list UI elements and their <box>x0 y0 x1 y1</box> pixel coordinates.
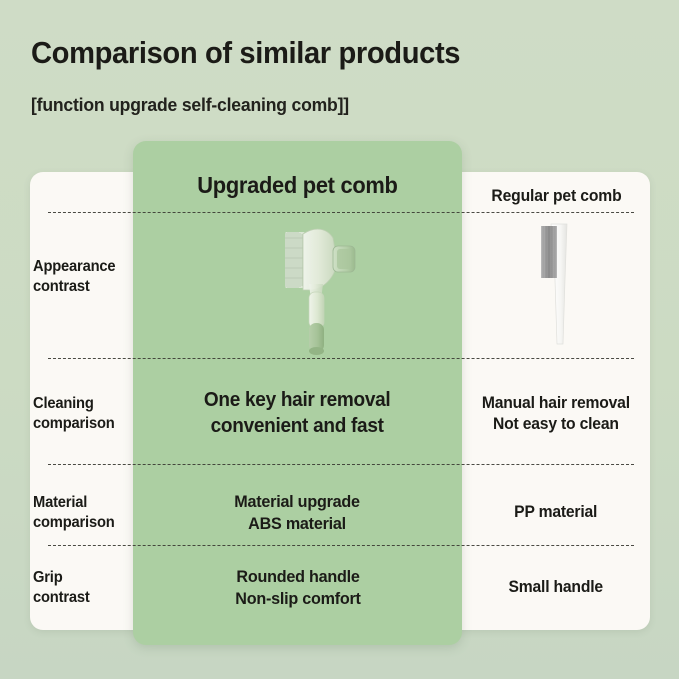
cell-grip-upgraded-text: Rounded handleNon-slip comfort <box>235 566 360 610</box>
page-subtitle: [function upgrade self-cleaning comb]] <box>31 94 349 116</box>
cell-cleaning-regular-text: Manual hair removalNot easy to clean <box>482 393 630 436</box>
cell-cleaning-upgraded: One key hair removalconvenient and fast <box>133 385 462 443</box>
cell-grip-regular-text: Small handle <box>509 577 603 598</box>
row-label-grip-text: Gripcontrast <box>33 568 90 608</box>
upgraded-pet-comb-image <box>265 218 395 358</box>
row-label-cleaning-text: Cleaningcomparison <box>33 394 115 434</box>
cell-grip-regular: Small handle <box>462 560 650 616</box>
row-label-cleaning: Cleaningcomparison <box>33 385 133 443</box>
divider-under-cleaning-row <box>48 464 634 465</box>
regular-pet-comb-image <box>517 218 607 358</box>
cell-material-regular-text: PP material <box>514 502 597 523</box>
infographic-root: Comparison of similar products [function… <box>0 0 679 679</box>
column-header-regular: Regular pet comb <box>462 180 650 212</box>
cell-material-upgraded: Material upgradeABS material <box>133 487 462 539</box>
row-label-grip: Gripcontrast <box>33 560 133 616</box>
row-label-material: Materialcomparison <box>33 487 133 539</box>
column-header-upgraded-label: Upgraded pet comb <box>197 172 397 199</box>
row-label-appearance-text: Appearancecontrast <box>33 257 115 297</box>
cell-cleaning-regular: Manual hair removalNot easy to clean <box>462 385 650 443</box>
cell-material-regular: PP material <box>462 487 650 539</box>
row-label-material-text: Materialcomparison <box>33 493 115 533</box>
cell-cleaning-upgraded-text: One key hair removalconvenient and fast <box>204 388 391 439</box>
column-header-regular-label: Regular pet comb <box>491 187 621 206</box>
cell-grip-upgraded: Rounded handleNon-slip comfort <box>133 560 462 616</box>
row-label-appearance: Appearancecontrast <box>33 248 133 306</box>
cell-material-upgraded-text: Material upgradeABS material <box>235 491 360 535</box>
divider-under-appearance-row <box>48 358 634 359</box>
divider-under-headers <box>48 212 634 213</box>
page-title: Comparison of similar products <box>31 35 460 71</box>
divider-under-material-row <box>48 545 634 546</box>
column-header-upgraded: Upgraded pet comb <box>133 163 462 207</box>
